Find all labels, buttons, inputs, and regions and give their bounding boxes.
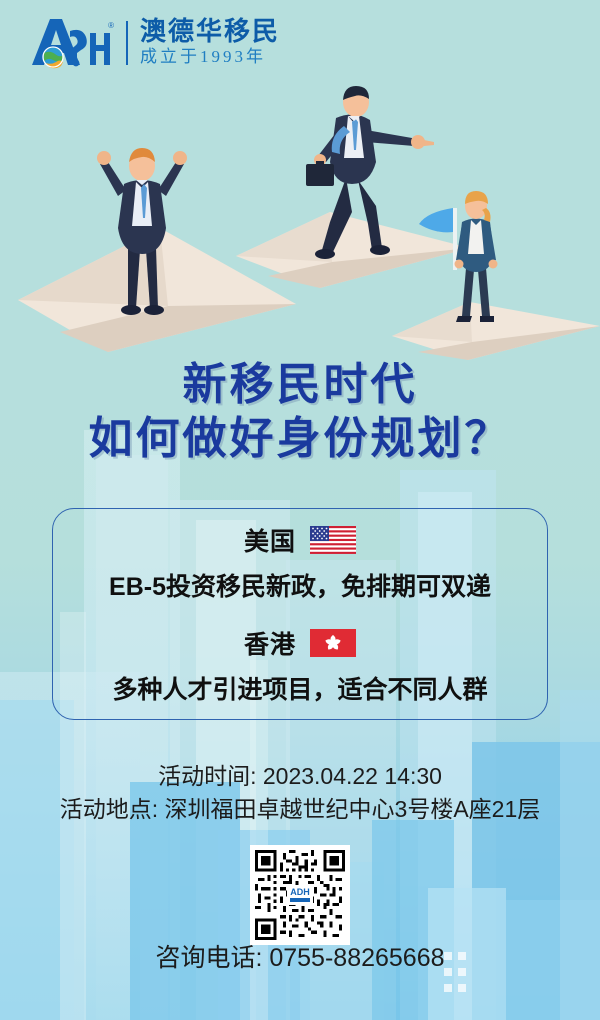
logo-divider <box>126 21 128 65</box>
globe-icon <box>43 47 63 68</box>
event-details: 活动时间: 2023.04.22 14:30 活动地点: 深圳福田卓越世纪中心3… <box>0 760 600 825</box>
qr-code[interactable]: ADH <box>250 845 350 945</box>
us-flag-icon <box>310 526 356 554</box>
paper-plane-right <box>392 302 600 360</box>
program-item-hk: 香港 <box>112 625 487 706</box>
country-name-us: 美国 <box>244 522 296 558</box>
country-row-hk: 香港 <box>112 625 487 661</box>
qr-center-logo-text: ADH <box>290 888 310 897</box>
figure-businesswoman <box>455 191 498 322</box>
country-row-us: 美国 <box>109 522 491 558</box>
page-title: 新移民时代 如何做好身份规划？ <box>0 358 600 465</box>
event-location: 活动地点: 深圳福田卓越世纪中心3号楼A座21层 <box>0 793 600 826</box>
adh-logo-svg <box>30 15 112 71</box>
qr-center-logo-bar <box>290 898 310 902</box>
qr-center-logo: ADH <box>287 885 313 905</box>
promotional-poster: ® 澳德华移民 成立于1993年 <box>0 0 600 1020</box>
event-time: 活动时间: 2023.04.22 14:30 <box>0 760 600 793</box>
registered-trademark-icon: ® <box>108 21 114 30</box>
adh-logo-mark: ® <box>30 15 112 71</box>
program-description-hk: 多种人才引进项目，适合不同人群 <box>112 670 487 706</box>
headline-line-2: 如何做好身份规划？ <box>0 412 600 466</box>
brand-name: 澳德华移民 <box>140 18 280 45</box>
country-name-hk: 香港 <box>244 625 296 661</box>
headline-line-1: 新移民时代 <box>0 358 600 412</box>
hk-flag-icon <box>310 629 356 657</box>
contact-phone: 咨询电话: 0755-88265668 <box>0 938 600 974</box>
program-item-us: 美国 <box>109 522 491 603</box>
hero-illustration-svg <box>0 60 600 360</box>
program-description-us: EB-5投资移民新政，免排期可双递 <box>109 567 491 603</box>
program-info-box: 美国 <box>52 508 548 720</box>
hero-illustration <box>0 60 600 360</box>
brand-tagline: 成立于1993年 <box>140 47 280 67</box>
brand-header: ® 澳德华移民 成立于1993年 <box>0 0 600 86</box>
brand-name-block: 澳德华移民 成立于1993年 <box>140 18 280 68</box>
